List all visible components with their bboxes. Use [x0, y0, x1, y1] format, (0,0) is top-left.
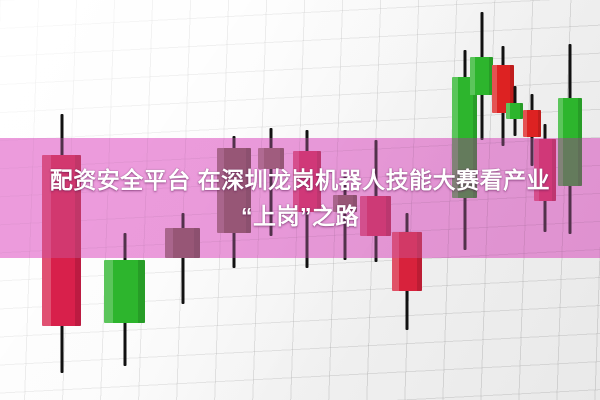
- banner-headline: 配资安全平台 在深圳龙岗机器人技能大赛看产业 “上岗”之路: [0, 152, 600, 244]
- headline-line-1: 配资安全平台 在深圳龙岗机器人技能大赛看产业: [50, 165, 550, 195]
- banner-image: 配资安全平台 在深圳龙岗机器人技能大赛看产业 “上岗”之路: [0, 0, 600, 400]
- candlestick-body: [470, 57, 493, 95]
- candlestick-body: [104, 260, 145, 323]
- candlestick-body: [506, 103, 523, 119]
- headline-line-2: “上岗”之路: [241, 201, 359, 231]
